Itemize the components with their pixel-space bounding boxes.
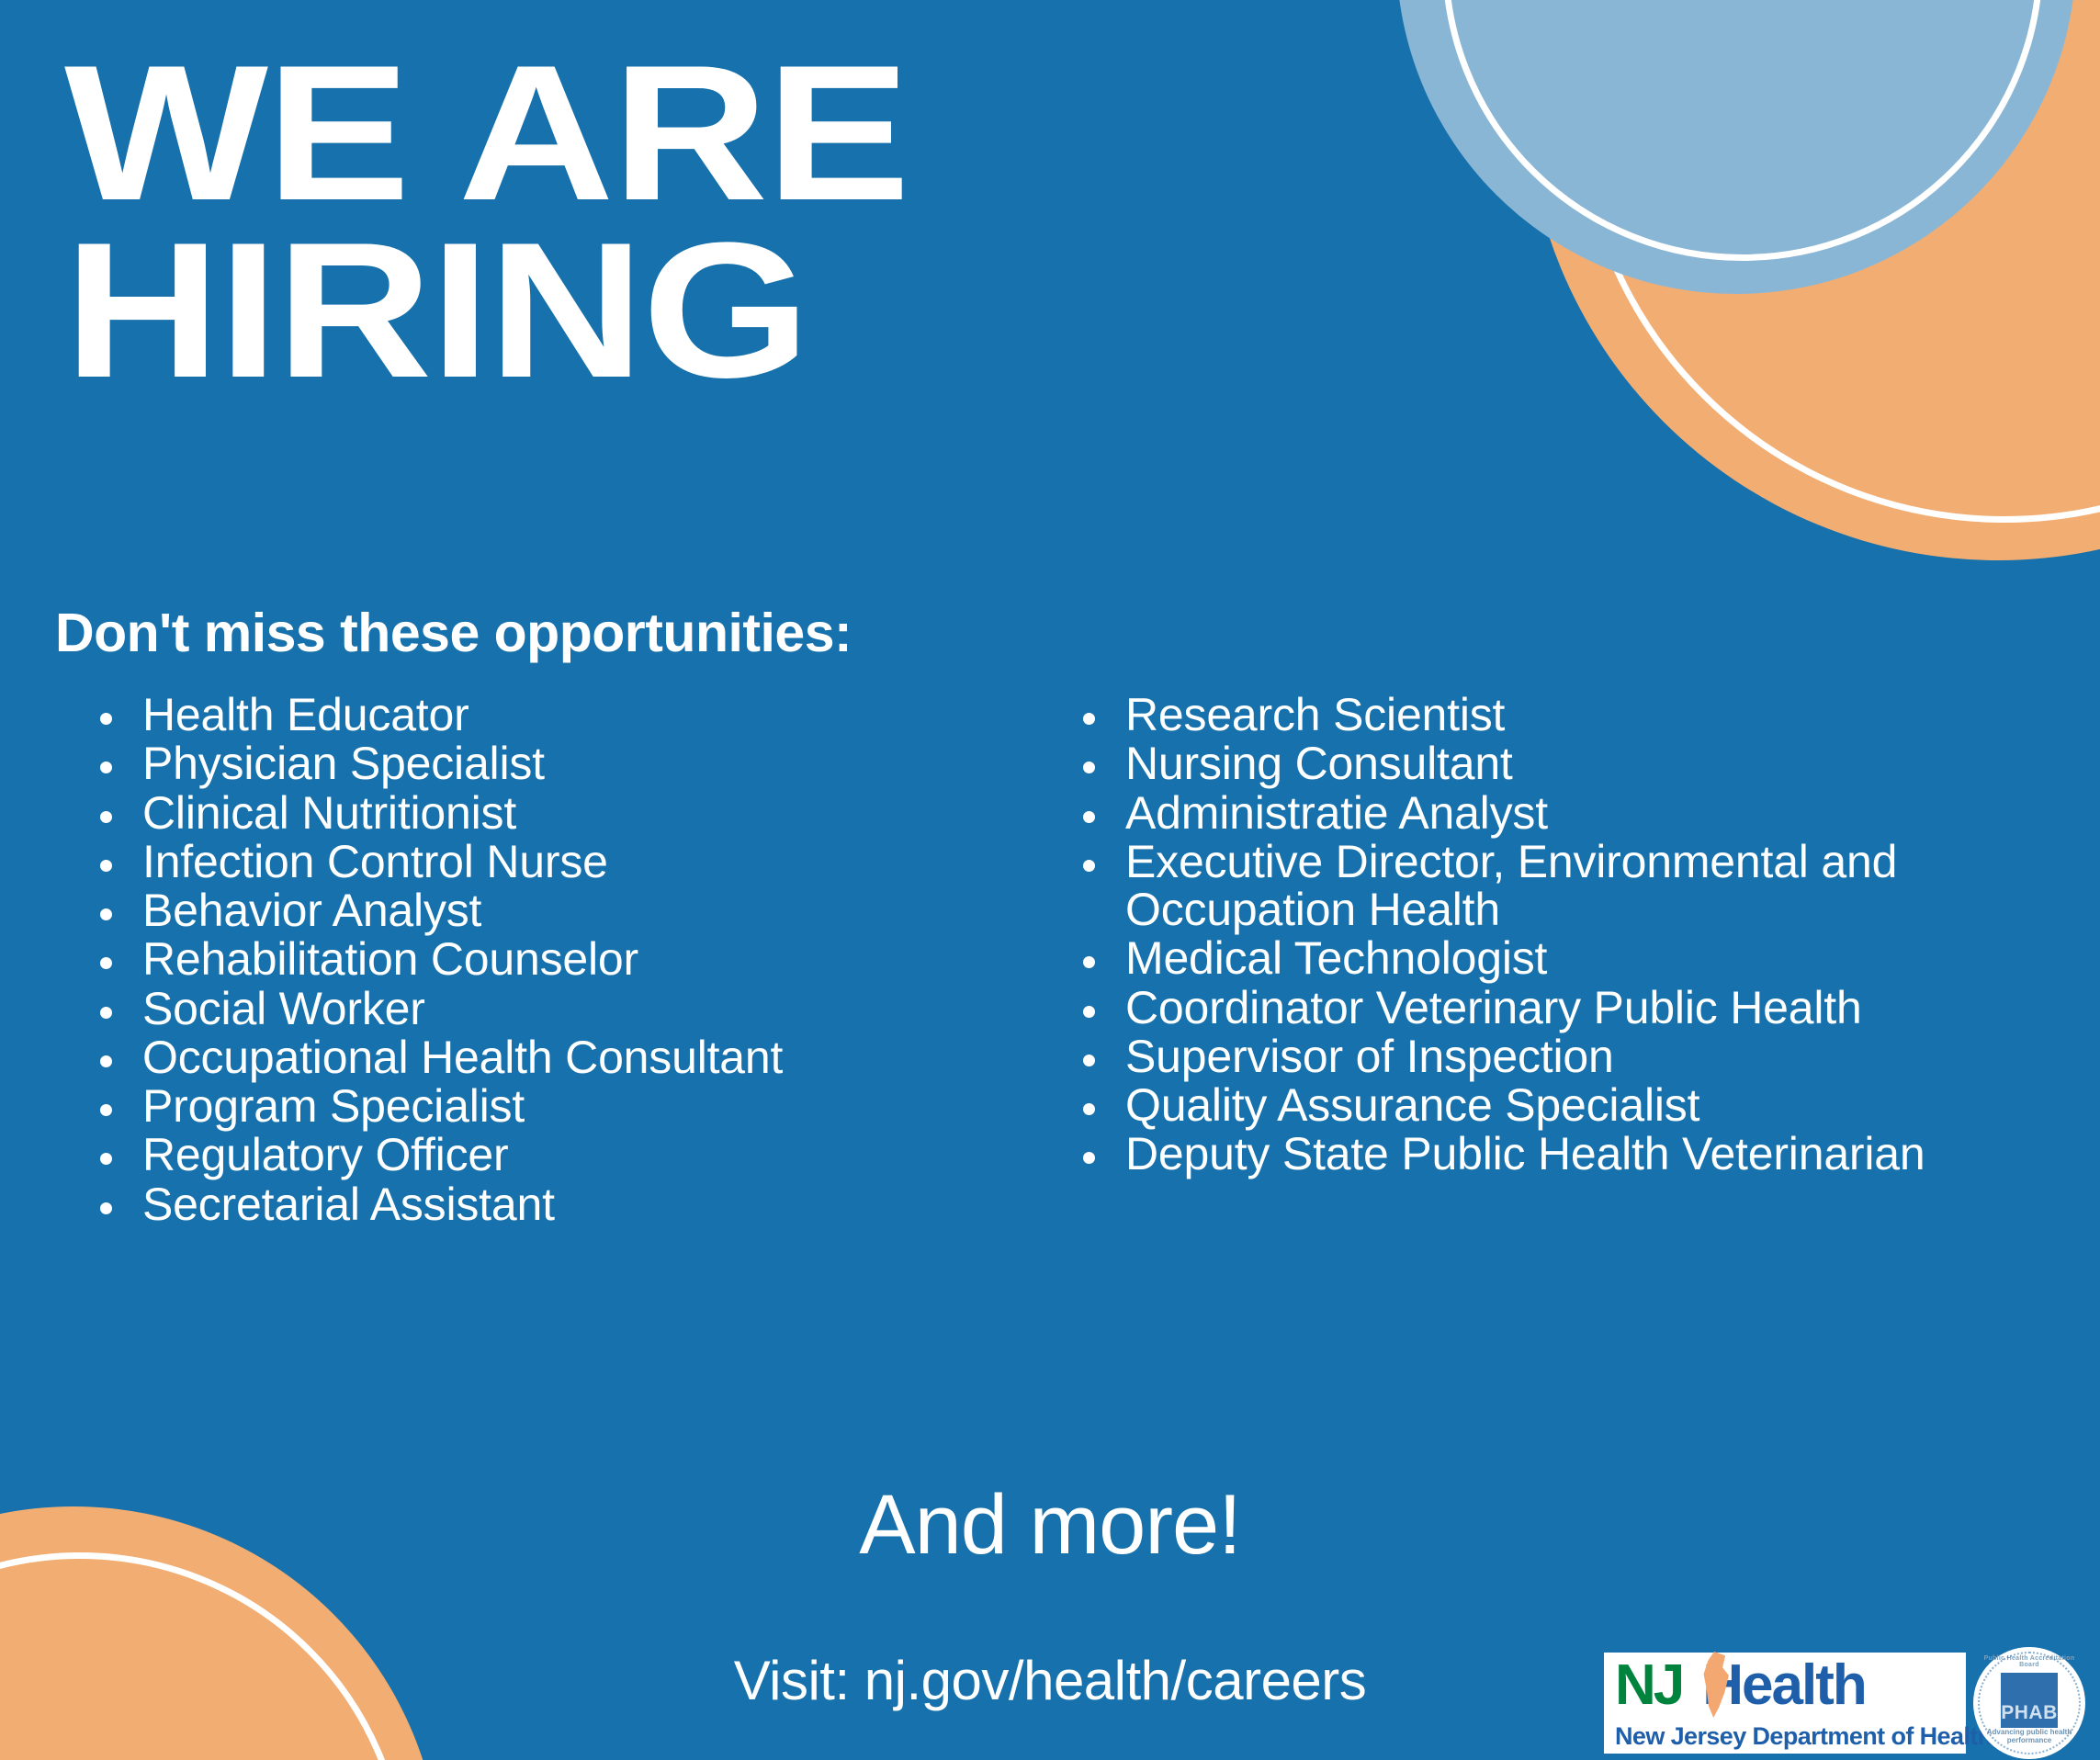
bullet-icon (1083, 762, 1095, 773)
bullet-icon (100, 1104, 112, 1116)
subtitle-text: Don't miss these opportunities: (55, 602, 852, 664)
logo-card: NJ Health New Jersey Department of Healt… (1600, 1649, 1970, 1757)
list-item: Program Specialist (92, 1082, 1056, 1130)
phab-acronym: PHAB (2001, 1702, 2058, 1724)
phab-accreditation-seal-icon: Public Health Accreditation Board PHAB A… (1973, 1647, 2085, 1759)
list-item: Deputy State Public Health Veterinarian (1075, 1130, 2100, 1178)
list-item: Administratie Analyst (1075, 789, 2100, 837)
bullet-icon (1083, 811, 1095, 823)
bullet-icon (1083, 860, 1095, 872)
logo-wordmark: NJ Health (1615, 1657, 1966, 1718)
list-item: Nursing Consultant (1075, 739, 2100, 787)
job-title: Social Worker (142, 983, 425, 1034)
decorative-ring-lightblue-top-right (1442, 0, 2043, 261)
job-title: Rehabilitation Counselor (142, 933, 638, 985)
job-title: Secretarial Assistant (142, 1179, 555, 1230)
job-title: Occupational Health Consultant (142, 1032, 783, 1083)
list-item: Executive Director, Environmental and Oc… (1075, 838, 2100, 934)
phab-square: PHAB (2001, 1673, 2058, 1728)
bullet-icon (1083, 1006, 1095, 1018)
list-item: Coordinator Veterinary Public Health (1075, 984, 2100, 1032)
bullet-icon (1083, 1152, 1095, 1164)
bullet-icon (100, 1055, 112, 1067)
list-item: Medical Technologist (1075, 934, 2100, 982)
job-title: Executive Director, Environmental and Oc… (1125, 836, 1897, 935)
bullet-icon (1083, 713, 1095, 725)
list-item: Behavior Analyst (92, 886, 1056, 934)
job-list-left: Health Educator Physician Specialist Cli… (92, 691, 1056, 1228)
job-title: Coordinator Veterinary Public Health (1125, 982, 1862, 1033)
job-title: Infection Control Nurse (142, 836, 608, 887)
list-item: Social Worker (92, 985, 1056, 1032)
list-item: Supervisor of Inspection (1075, 1032, 2100, 1080)
job-list-right: Research Scientist Nursing Consultant Ad… (1075, 691, 2100, 1179)
nj-health-logo: NJ Health New Jersey Department of Healt… (1600, 1646, 2100, 1760)
list-item: Clinical Nutritionist (92, 789, 1056, 837)
job-title: Medical Technologist (1125, 932, 1547, 984)
list-item: Research Scientist (1075, 691, 2100, 739)
logo-subtitle-text: New Jersey Department of Health (1615, 1724, 1966, 1749)
job-title: Program Specialist (142, 1080, 525, 1132)
job-listings: Health Educator Physician Specialist Cli… (0, 691, 2100, 1228)
list-item: Quality Assurance Specialist (1075, 1081, 2100, 1129)
bullet-icon (100, 860, 112, 872)
job-title: Regulatory Officer (142, 1129, 508, 1180)
bullet-icon (100, 1007, 112, 1019)
job-title: Physician Specialist (142, 738, 545, 789)
job-title: Administratie Analyst (1125, 787, 1548, 839)
headline-line-2: HIRING (64, 221, 1505, 399)
bullet-icon (100, 957, 112, 969)
job-column-left: Health Educator Physician Specialist Cli… (0, 691, 1056, 1228)
job-title: Supervisor of Inspection (1125, 1031, 1614, 1082)
decorative-circle-orange-top-right (1525, 0, 2100, 560)
hiring-poster: WE ARE HIRING Don't miss these opportuni… (0, 0, 2100, 1760)
job-title: Nursing Consultant (1125, 738, 1513, 789)
bullet-icon (100, 908, 112, 920)
phab-caption: Advancing public health performance (1973, 1728, 2085, 1744)
bullet-icon (100, 762, 112, 773)
bullet-icon (100, 713, 112, 725)
job-title: Health Educator (142, 689, 469, 740)
job-title: Deputy State Public Health Veterinarian (1125, 1128, 1925, 1179)
list-item: Regulatory Officer (92, 1131, 1056, 1179)
list-item: Occupational Health Consultant (92, 1033, 1056, 1081)
and-more-text: And more! (0, 1477, 2100, 1574)
headline-line-1: WE ARE (64, 44, 1505, 221)
list-item: Infection Control Nurse (92, 838, 1056, 886)
list-item: Secretarial Assistant (92, 1180, 1056, 1228)
job-title: Clinical Nutritionist (142, 787, 516, 839)
bullet-icon (1083, 956, 1095, 968)
logo-nj-text: NJ (1615, 1657, 1682, 1714)
bullet-icon (1083, 1103, 1095, 1115)
logo-health-text: Health (1702, 1657, 1865, 1714)
bullet-icon (100, 1153, 112, 1165)
decorative-ring-orange-top-right (1575, 0, 2100, 523)
bullet-icon (100, 811, 112, 823)
list-item: Physician Specialist (92, 739, 1056, 787)
job-column-right: Research Scientist Nursing Consultant Ad… (1056, 691, 2100, 1228)
list-item: Rehabilitation Counselor (92, 935, 1056, 983)
job-title: Behavior Analyst (142, 885, 481, 936)
job-title: Quality Assurance Specialist (1125, 1079, 1699, 1131)
phab-ring-text: Public Health Accreditation Board (1973, 1655, 2085, 1668)
list-item: Health Educator (92, 691, 1056, 739)
job-title: Research Scientist (1125, 689, 1505, 740)
poster-headline: WE ARE HIRING (64, 44, 1350, 399)
bullet-icon (100, 1202, 112, 1214)
bullet-icon (1083, 1055, 1095, 1066)
